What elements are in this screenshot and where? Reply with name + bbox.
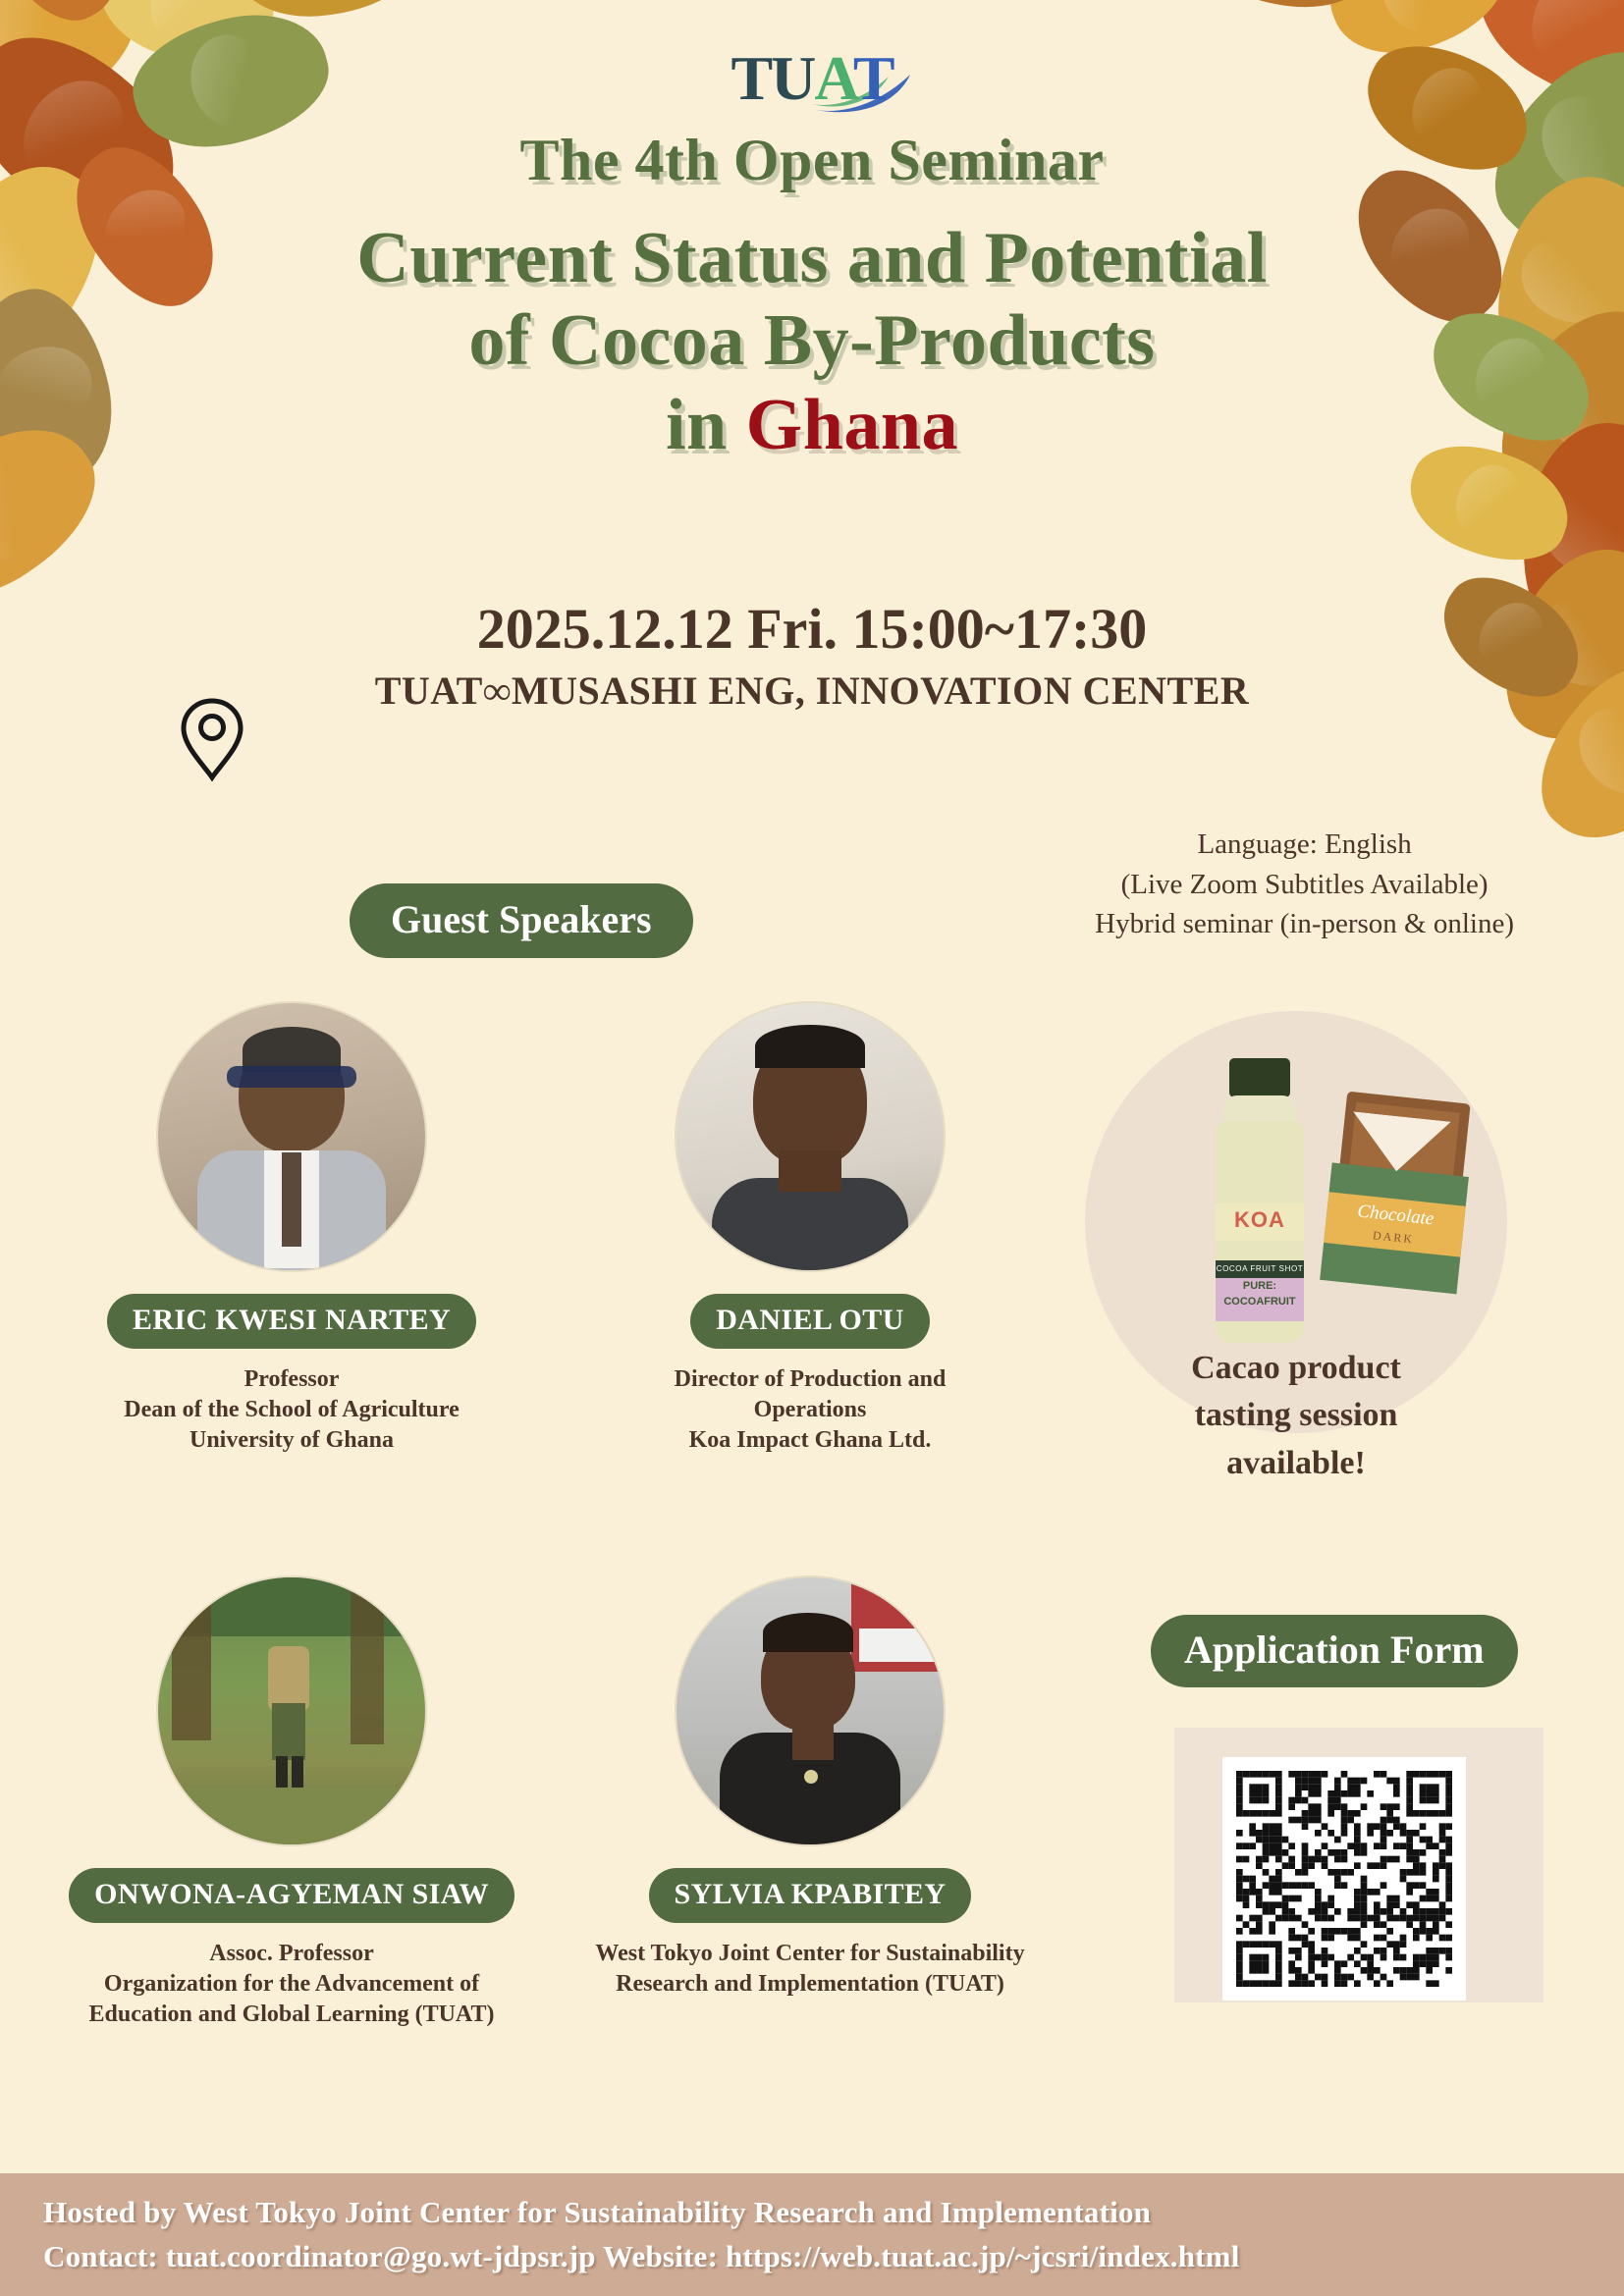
koa-bottle-image: KOA COCOA FRUIT SHOT PURE: COCOAFRUIT	[1200, 1058, 1318, 1353]
footer-bar: Hosted by West Tokyo Joint Center for Su…	[0, 2173, 1624, 2296]
speaker-1-name: ERIC KWESI NARTEY	[107, 1294, 476, 1349]
avatar	[156, 1001, 427, 1272]
speaker-1-bio-line-1: Professor	[61, 1364, 522, 1395]
seminar-number-title: The 4th Open Seminar	[0, 128, 1624, 193]
main-title-line2: of Cocoa By-Products	[0, 301, 1624, 381]
koa-subtitle-text: COCOA FRUIT SHOT	[1216, 1260, 1304, 1278]
guest-speakers-heading: Guest Speakers	[350, 883, 693, 958]
main-title-line3: in Ghana	[0, 385, 1624, 466]
tuat-logo: TUAT	[0, 47, 1624, 110]
logo-part-a: A	[814, 43, 852, 113]
speaker-4-bio-line-1: West Tokyo Joint Center for Sustainabili…	[579, 1939, 1041, 1969]
speaker-1-bio-line-2: Dean of the School of Agriculture	[61, 1395, 522, 1425]
footer-contact-website: Contact: tuat.coordinator@go.wt-jdpsr.jp…	[43, 2235, 1624, 2279]
language-line-3: Hybrid seminar (in-person & online)	[1095, 904, 1514, 944]
speaker-card-4: SYLVIA KPABITEY West Tokyo Joint Center …	[579, 1575, 1041, 2000]
avatar	[675, 1001, 946, 1272]
koa-product-line2: COCOAFRUIT	[1216, 1296, 1304, 1308]
speaker-3-bio-line-2: Organization for the Advancement of	[61, 1969, 522, 2000]
speaker-2-bio-line-2: Operations	[579, 1395, 1041, 1425]
speaker-3-bio-line-1: Assoc. Professor	[61, 1939, 522, 1969]
koa-brand-text: KOA	[1229, 1207, 1290, 1233]
language-info-block: Language: English (Live Zoom Subtitles A…	[1095, 825, 1514, 944]
speaker-4-name: SYLVIA KPABITEY	[649, 1868, 972, 1923]
speaker-3-name: ONWONA-AGYEMAN SIAW	[69, 1868, 514, 1923]
application-form-heading: Application Form	[1151, 1615, 1518, 1687]
koa-product-line1: PURE:	[1216, 1280, 1304, 1292]
language-line-2: (Live Zoom Subtitles Available)	[1095, 865, 1514, 905]
title-in-word: in	[666, 385, 746, 465]
map-pin-icon	[179, 697, 245, 781]
speaker-2-name: DANIEL OTU	[690, 1294, 930, 1349]
cacao-caption-line-1: Cacao product	[1085, 1345, 1507, 1392]
title-block: The 4th Open Seminar Current Status and …	[0, 128, 1624, 466]
cacao-caption-line-3: available!	[1085, 1440, 1507, 1487]
avatar	[156, 1575, 427, 1846]
speaker-card-1: ERIC KWESI NARTEY Professor Dean of the …	[61, 1001, 522, 1457]
speaker-card-2: DANIEL OTU Director of Production and Op…	[579, 1001, 1041, 1457]
speaker-2-bio-line-1: Director of Production and	[579, 1364, 1041, 1395]
title-country-ghana: Ghana	[746, 385, 958, 465]
poster-root: TUAT The 4th Open Seminar Current Status…	[0, 0, 1624, 2296]
speaker-1-bio-line-3: University of Ghana	[61, 1425, 522, 1456]
speaker-4-bio: West Tokyo Joint Center for Sustainabili…	[579, 1939, 1041, 2000]
speaker-4-bio-line-2: Research and Implementation (TUAT)	[579, 1969, 1041, 2000]
language-line-1: Language: English	[1095, 825, 1514, 865]
main-title-line1: Current Status and Potential	[0, 219, 1624, 298]
speaker-2-bio-line-3: Koa Impact Ghana Ltd.	[579, 1425, 1041, 1456]
avatar	[675, 1575, 946, 1846]
footer-hosted-by: Hosted by West Tokyo Joint Center for Su…	[43, 2191, 1624, 2235]
speaker-2-bio: Director of Production and Operations Ko…	[579, 1364, 1041, 1457]
qr-code[interactable]	[1222, 1757, 1466, 2001]
speaker-3-bio-line-3: Education and Global Learning (TUAT)	[61, 2000, 522, 2030]
logo-part-t: T	[853, 43, 893, 113]
speaker-1-bio: Professor Dean of the School of Agricult…	[61, 1364, 522, 1457]
logo-part-tu: TU	[731, 43, 814, 113]
cacao-tasting-caption: Cacao product tasting session available!	[1085, 1345, 1507, 1487]
chocolate-bar-image: Chocolate DARK	[1316, 1091, 1486, 1330]
speaker-card-3: ONWONA-AGYEMAN SIAW Assoc. Professor Org…	[61, 1575, 522, 2031]
seminar-datetime: 2025.12.12 Fri. 15:00~17:30	[0, 596, 1624, 662]
cacao-caption-line-2: tasting session	[1085, 1392, 1507, 1439]
speaker-3-bio: Assoc. Professor Organization for the Ad…	[61, 1939, 522, 2031]
